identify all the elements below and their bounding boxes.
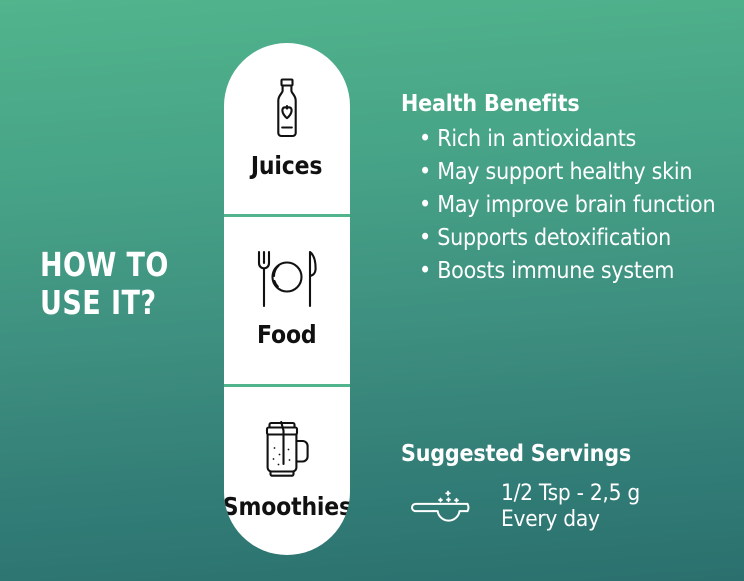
bullet-icon: • (419, 126, 431, 152)
bullet-icon: • (419, 192, 431, 218)
health-benefits-list: •Rich in antioxidants •May support healt… (401, 123, 733, 288)
health-benefits-heading: Health Benefits (401, 90, 700, 118)
bullet-icon: • (419, 258, 431, 284)
usage-item-juices[interactable]: Juices (224, 43, 350, 214)
fork-plate-knife-icon (254, 250, 320, 313)
list-item-label: Boosts immune system (437, 258, 674, 284)
bullet-icon: • (419, 159, 431, 185)
bullet-icon: • (419, 225, 431, 251)
list-item: •May support healthy skin (419, 156, 702, 189)
suggested-servings-heading: Suggested Servings (401, 440, 700, 468)
serving-text: 1/2 Tsp - 2,5 g Every day (501, 481, 652, 533)
page-title-line-1: HOW TO (40, 248, 204, 281)
list-item: •Supports detoxification (419, 222, 702, 255)
list-item-label: Supports detoxification (437, 225, 671, 251)
list-item: •Boosts immune system (419, 255, 702, 288)
usage-item-label: Juices (251, 153, 322, 179)
list-item: •Rich in antioxidants (419, 123, 702, 156)
usage-item-smoothies[interactable]: Smoothies (224, 384, 350, 555)
serving-amount: 1/2 Tsp - 2,5 g (501, 481, 640, 507)
serving-frequency: Every day (501, 507, 640, 533)
list-item-label: May improve brain function (437, 192, 715, 218)
page-title: HOW TO USE IT? (40, 248, 240, 319)
usage-item-food[interactable]: Food (224, 214, 350, 385)
juice-bottle-icon (265, 77, 309, 144)
measuring-spoon-icon (401, 487, 487, 527)
smoothie-jar-icon (258, 420, 316, 485)
health-benefits-section: Health Benefits •Rich in antioxidants •M… (401, 90, 733, 288)
list-item: •May improve brain function (419, 189, 702, 222)
usage-item-label: Food (257, 322, 316, 348)
list-item-label: May support healthy skin (437, 159, 692, 185)
suggested-servings-section: Suggested Servings 1/2 Tsp - (401, 440, 733, 533)
usage-methods-card: Juices Food (224, 43, 350, 555)
serving-row: 1/2 Tsp - 2,5 g Every day (401, 481, 733, 533)
usage-item-label: Smoothies (224, 494, 350, 520)
page-title-line-2: USE IT? (40, 286, 204, 319)
list-item-label: Rich in antioxidants (437, 126, 636, 152)
